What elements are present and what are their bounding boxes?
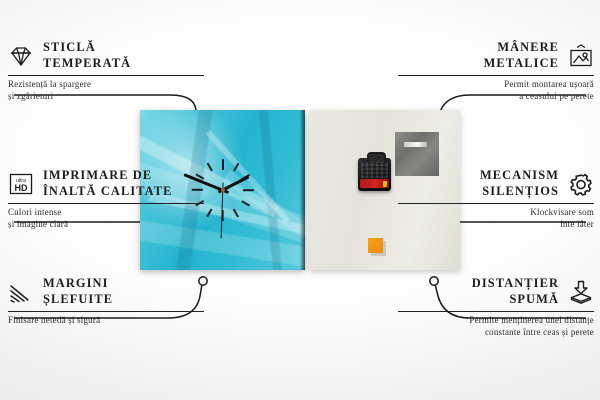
feature-title-line2: SILENȚIOS xyxy=(482,184,559,198)
feature-sub-line2: și imagine clară xyxy=(8,219,68,229)
feature-divider xyxy=(398,203,594,204)
feature-tempered-glass: STICLĂ TEMPERATĂ Rezistență la spargere … xyxy=(8,40,204,102)
feature-title-line1: MARGINI xyxy=(43,276,109,290)
feature-divider xyxy=(398,75,594,76)
feature-sub-line2: inte låter xyxy=(560,219,594,229)
feature-divider xyxy=(398,311,594,312)
feature-sub-line1: Permit montarea ușoară xyxy=(504,79,594,89)
feature-sub-line2: constante între ceas și perete xyxy=(485,327,594,337)
infographic-canvas: STICLĂ TEMPERATĂ Rezistență la spargere … xyxy=(0,0,600,400)
ultra-hd-icon: ultra HD xyxy=(8,172,34,196)
polished-edges-icon xyxy=(8,280,34,304)
feature-title-line2: TEMPERATĂ xyxy=(43,56,131,70)
feature-foam-spacer: DISTANȚIER SPUMĂ Permite menținerea unei… xyxy=(398,276,594,338)
feature-sub-line1: Finisare netedă și sigură xyxy=(8,315,100,325)
feature-sub-line1: Klockvisare som xyxy=(530,207,594,217)
feature-metal-handles: MÂNERE METALICE Permit montarea ușoară a… xyxy=(398,40,594,102)
feature-sub-line1: Rezistență la spargere xyxy=(8,79,91,89)
feature-title-line1: DISTANȚIER xyxy=(472,276,559,290)
feature-title-line1: MÂNERE xyxy=(497,40,559,54)
feature-silent-mechanism: MECANISM SILENȚIOS Klockvisare som inte … xyxy=(398,168,594,230)
feature-title-line2: ȘLEFUITE xyxy=(43,292,113,306)
feature-sub-line2: și zgârieturi xyxy=(8,91,53,101)
diamond-icon xyxy=(8,44,34,68)
feature-sub-line2: a ceasului pe perete xyxy=(519,91,594,101)
feature-high-quality-print: ultra HD IMPRIMARE DE ÎNALTĂ CALITATE Cu… xyxy=(8,168,204,230)
feature-title-line2: METALICE xyxy=(484,56,559,70)
foam-spacer-part xyxy=(368,238,383,253)
feature-title-line1: IMPRIMARE DE xyxy=(43,168,152,182)
feature-sub-line1: Permite menținerea unei distanțe xyxy=(469,315,594,325)
gear-icon xyxy=(568,172,594,196)
foam-spacer-arrow-icon xyxy=(568,280,594,304)
feature-sub-line1: Culori intense xyxy=(8,207,62,217)
picture-frame-hanging-icon xyxy=(568,44,594,68)
feature-divider xyxy=(8,75,204,76)
feature-title-line1: STICLĂ xyxy=(43,40,96,54)
quartz-mechanism-part xyxy=(358,158,391,191)
feature-divider xyxy=(8,203,204,204)
feature-title-line2: SPUMĂ xyxy=(509,292,559,306)
feature-polished-edges: MARGINI ȘLEFUITE Finisare netedă și sigu… xyxy=(8,276,204,327)
feature-title-line1: MECANISM xyxy=(480,168,559,182)
svg-text:HD: HD xyxy=(15,183,28,193)
feature-divider xyxy=(8,311,204,312)
clock-center-hub xyxy=(221,188,225,192)
feature-title-line2: ÎNALTĂ CALITATE xyxy=(43,184,173,198)
